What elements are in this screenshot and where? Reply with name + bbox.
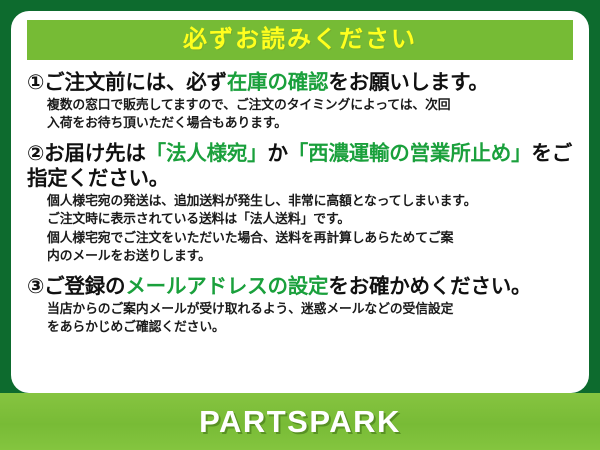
notice-item-3-heading: ③ご登録のメールアドレスの設定をお確かめください。: [25, 274, 575, 299]
notice-item-2-heading: ②お届け先は「法人様宛」か「西濃運輸の営業所止め」をご指定ください。: [25, 141, 575, 191]
notice-item-1: ①ご注文前には、必ず在庫の確認をお願いします。 複数の窓口で販売してますので、ご…: [25, 70, 575, 132]
notice-title-text: 必ずお読みください: [183, 28, 417, 52]
notice-item-3-body: 当店からのご案内メールが受け取れるよう、迷惑メールなどの受信設定をあらかじめご確…: [25, 300, 575, 336]
notice-item-2-body: 個人様宅宛の発送は、追加送料が発生し、非常に高額となってしまいます。ご注文時に表…: [25, 192, 575, 265]
notice-item-3-body-line-2: をあらかじめご確認ください。: [47, 318, 575, 336]
notice-item-1-body-line-1: 複数の窓口で販売してますので、ご注文のタイミングによっては、次回: [47, 96, 575, 114]
notice-item-2-heading-part-1: ②お届け先は: [27, 142, 146, 165]
notice-item-3: ③ご登録のメールアドレスの設定をお確かめください。 当店からのご案内メールが受け…: [25, 274, 575, 336]
notice-item-2-body-line-2: ご注文時に表示されている送料は「法人送料」です。: [47, 210, 575, 228]
notice-item-3-heading-part-3: をお確かめください。: [328, 275, 531, 298]
notice-item-1-heading-part-2: 在庫の確認: [227, 71, 329, 94]
notice-item-2-heading-part-3: か: [267, 142, 287, 165]
notice-item-2: ②お届け先は「法人様宛」か「西濃運輸の営業所止め」をご指定ください。 個人様宅宛…: [25, 141, 575, 265]
notice-item-2-heading-part-2: 「法人様宛」: [146, 142, 268, 165]
notice-item-1-heading-part-1: ①ご注文前には、必ず: [27, 71, 227, 94]
brand-logo: PARTSPARK: [199, 406, 401, 437]
notice-item-2-body-line-1: 個人様宅宛の発送は、追加送料が発生し、非常に高額となってしまいます。: [47, 192, 575, 210]
notice-panel: 必ずお読みください ①ご注文前には、必ず在庫の確認をお願いします。 複数の窓口で…: [11, 11, 589, 393]
notice-item-1-body: 複数の窓口で販売してますので、ご注文のタイミングによっては、次回入荷をお待ち頂い…: [25, 96, 575, 132]
notice-item-3-body-line-1: 当店からのご案内メールが受け取れるよう、迷惑メールなどの受信設定: [47, 300, 575, 318]
notice-title-band: 必ずお読みください: [27, 20, 573, 60]
notice-item-3-heading-part-1: ③ご登録の: [27, 275, 125, 298]
notice-item-2-body-line-4: 内のメールをお送りします。: [47, 247, 575, 265]
footer-brand-band: PARTSPARK: [0, 393, 600, 450]
notice-item-3-heading-part-2: メールアドレスの設定: [125, 275, 328, 298]
notice-item-1-heading-part-3: をお願いします。: [328, 71, 488, 94]
notice-item-2-heading-part-4: 「西濃運輸の営業所止め」: [288, 142, 532, 165]
notice-item-2-body-line-3: 個人様宅宛でご注文をいただいた場合、送料を再計算しあらためてご案: [47, 229, 575, 247]
notice-item-1-heading: ①ご注文前には、必ず在庫の確認をお願いします。: [25, 70, 575, 95]
notice-card: 必ずお読みください ①ご注文前には、必ず在庫の確認をお願いします。 複数の窓口で…: [0, 0, 600, 450]
notice-item-1-body-line-2: 入荷をお待ち頂いただく場合もあります。: [47, 114, 575, 132]
